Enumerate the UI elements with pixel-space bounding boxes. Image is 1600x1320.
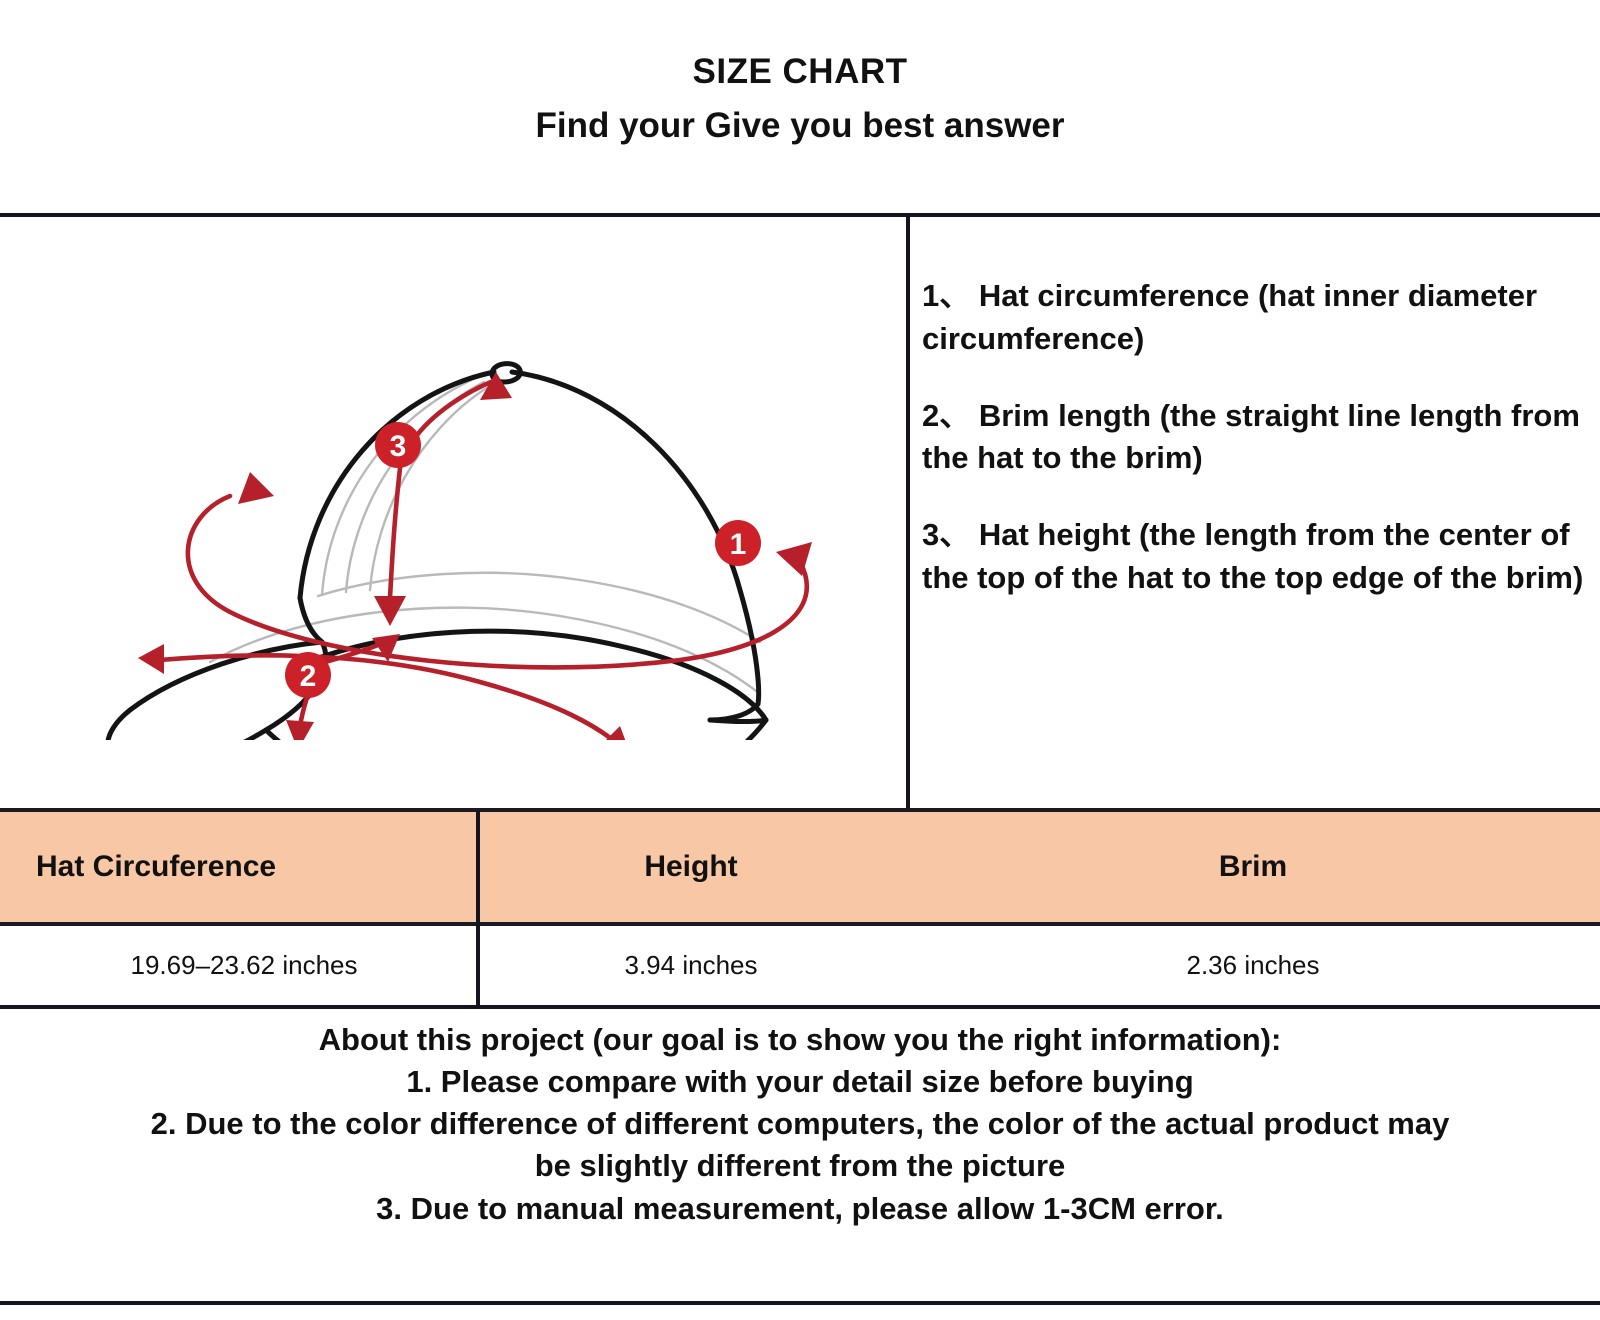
note-item-2-line-2: be slightly different from the picture [8,1145,1592,1187]
size-chart-sheet: SIZE CHART Find your Give you best answe… [0,0,1600,1320]
diagram-cell: 1 3 2 [0,215,906,808]
notes-block: About this project (our goal is to show … [0,1009,1600,1301]
arrowhead-brim-left [138,644,164,674]
legend-item-brim-length: 2、 Brim length (the straight line length… [922,395,1590,481]
column-header-hat-circumference: Hat Circuference [0,812,476,922]
badge-2: 2 [285,652,331,698]
svg-text:2: 2 [300,660,317,693]
table-row: 19.69–23.62 inches 3.94 inches 2.36 inch… [0,926,1600,1005]
badge-1: 1 [715,520,761,566]
baseball-cap-diagram: 1 3 2 [60,290,860,740]
legend-cell: 1、 Hat circumference (hat inner diameter… [910,215,1600,808]
badge-3: 3 [375,422,421,468]
column-header-brim: Brim [906,812,1600,922]
legend-item-hat-height: 3、 Hat height (the length from the cente… [922,514,1590,600]
note-item-1: 1. Please compare with your detail size … [8,1061,1592,1103]
note-item-3: 3. Due to manual measurement, please all… [8,1188,1592,1230]
cell-hat-circumference: 19.69–23.62 inches [0,926,476,1005]
page-subtitle: Find your Give you best answer [535,106,1064,146]
svg-text:3: 3 [390,430,407,463]
title-block: SIZE CHART Find your Give you best answe… [0,0,1600,215]
cell-height: 3.94 inches [476,926,906,1005]
divider-col-circumference-height [476,810,480,1007]
arrowhead-circumference-left [238,472,274,504]
legend-item-circumference: 1、 Hat circumference (hat inner diameter… [922,275,1590,361]
column-header-height: Height [476,812,906,922]
svg-text:1: 1 [730,528,747,561]
page-title: SIZE CHART [693,52,908,92]
arrowhead-brim-lower [286,720,314,740]
cell-brim: 2.36 inches [906,926,1600,1005]
divider-page-bottom [0,1301,1600,1305]
note-item-2-line-1: 2. Due to the color difference of differ… [8,1103,1592,1145]
arrowhead-circumference-right [776,542,812,576]
table-header-row: Hat Circuference Height Brim [0,812,1600,922]
note-heading: About this project (our goal is to show … [8,1019,1592,1061]
